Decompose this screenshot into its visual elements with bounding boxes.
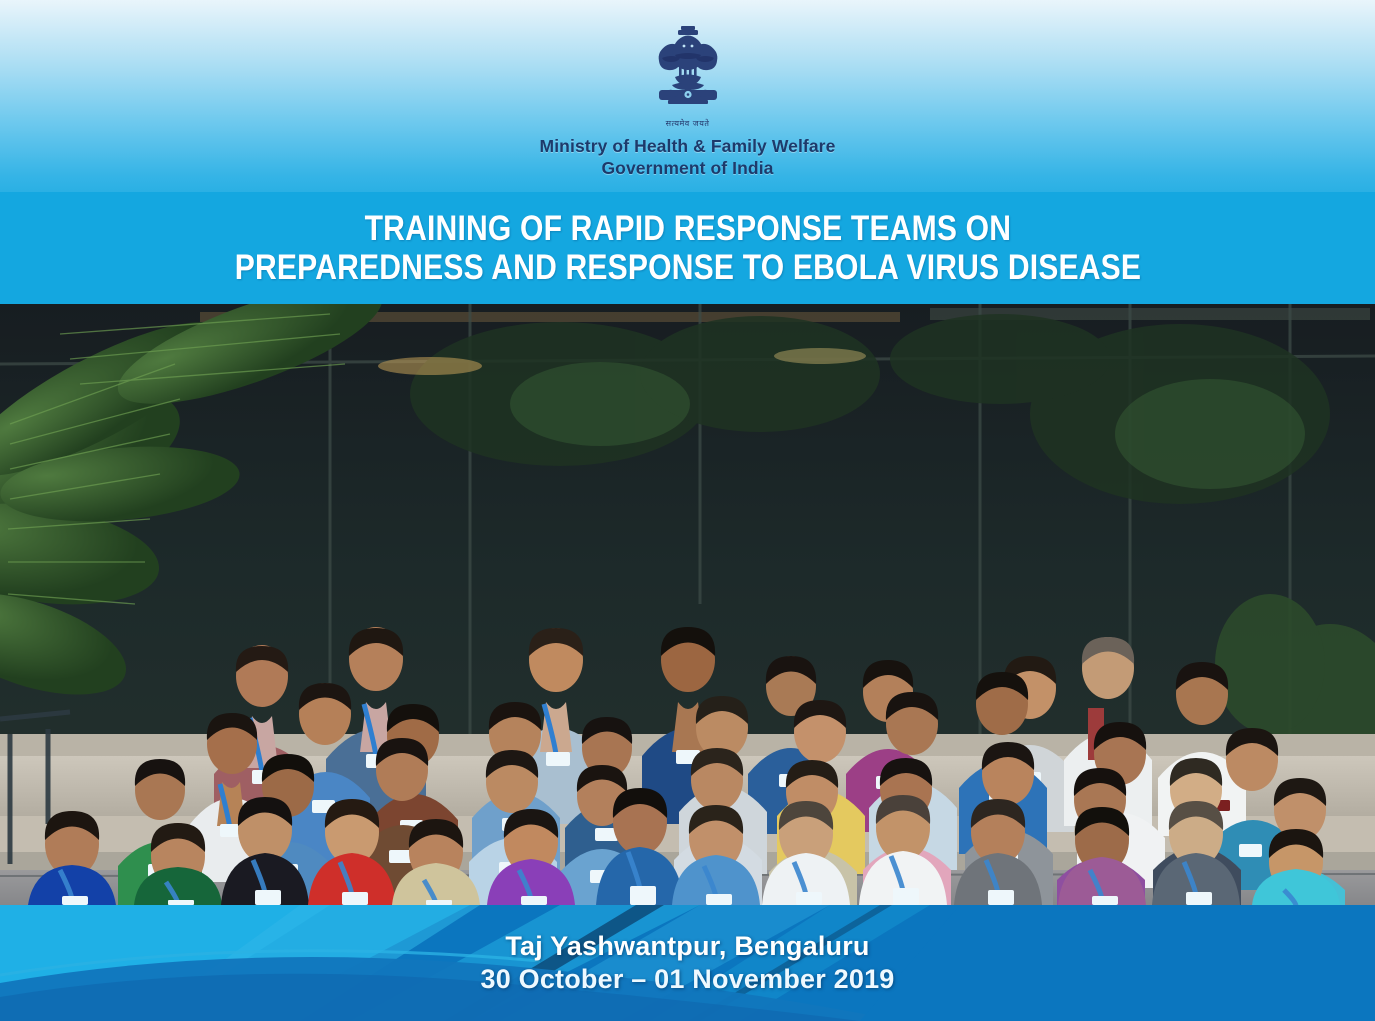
group-photograph [0, 304, 1375, 905]
state-emblem-of-india-icon [642, 22, 734, 126]
ministry-name: Ministry of Health & Family Welfare Gove… [540, 135, 836, 180]
ministry-line-1: Ministry of Health & Family Welfare [540, 135, 836, 157]
poster-footer: Taj Yashwantpur, Bengaluru 30 October – … [0, 905, 1375, 1021]
emblem-motto: सत्यमेव जयते [666, 120, 710, 128]
poster-title-line-2: PREPAREDNESS AND RESPONSE TO EBOLA VIRUS… [234, 248, 1140, 287]
venue-text: Taj Yashwantpur, Bengaluru [505, 930, 869, 963]
poster-title-line-1: TRAINING OF RAPID RESPONSE TEAMS ON [364, 209, 1011, 248]
poster-title-band: TRAINING OF RAPID RESPONSE TEAMS ON PREP… [0, 192, 1375, 304]
ministry-line-2: Government of India [540, 157, 836, 179]
event-poster: सत्यमेव जयते Ministry of Health & Family… [0, 0, 1375, 1021]
poster-header: सत्यमेव जयते Ministry of Health & Family… [0, 0, 1375, 304]
dates-text: 30 October – 01 November 2019 [480, 963, 894, 996]
